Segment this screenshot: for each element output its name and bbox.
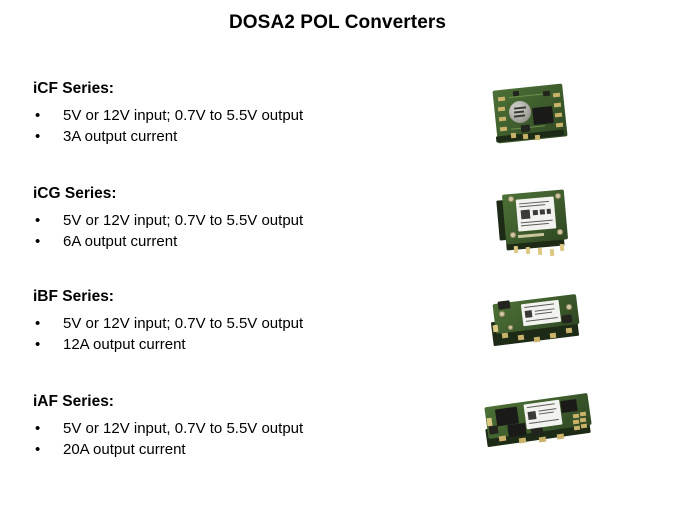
bullet-text: 20A output current [63,439,186,460]
iaf-module-photo [481,394,595,456]
list-item: • 5V or 12V input; 0.7V to 5.5V output [33,313,463,334]
list-item: • 5V or 12V input; 0.7V to 5.5V output [33,210,463,231]
ibf-module-photo [488,295,584,351]
list-item: • 20A output current [33,439,463,460]
bullet-text: 5V or 12V input; 0.7V to 5.5V output [63,105,303,126]
series-heading-iaf: iAF Series: [33,393,463,411]
series-heading-icf: iCF Series: [33,80,463,98]
bullet-icon: • [33,231,63,252]
list-item: • 5V or 12V input; 0.7V to 5.5V output [33,105,463,126]
bullet-icon: • [33,334,63,355]
bullet-icon: • [33,210,63,231]
series-block-icg: iCG Series: • 5V or 12V input; 0.7V to 5… [33,185,463,252]
bullet-icon: • [33,105,63,126]
series-block-ibf: iBF Series: • 5V or 12V input; 0.7V to 5… [33,288,463,355]
series-block-icf: iCF Series: • 5V or 12V input; 0.7V to 5… [33,80,463,147]
list-item: • 5V or 12V input, 0.7V to 5.5V output [33,418,463,439]
bullet-icon: • [33,126,63,147]
series-heading-icg: iCG Series: [33,185,463,203]
list-item: • 12A output current [33,334,463,355]
list-item: • 3A output current [33,126,463,147]
series-heading-ibf: iBF Series: [33,288,463,306]
icg-module-photo [492,188,578,256]
bullet-text: 12A output current [63,334,186,355]
page-title: DOSA2 POL Converters [0,12,675,34]
bullet-icon: • [33,313,63,334]
bullet-icon: • [33,439,63,460]
bullet-text: 5V or 12V input, 0.7V to 5.5V output [63,418,303,439]
list-item: • 6A output current [33,231,463,252]
icf-module-photo [491,83,571,145]
bullet-text: 6A output current [63,231,177,252]
bullet-text: 5V or 12V input; 0.7V to 5.5V output [63,210,303,231]
bullet-text: 3A output current [63,126,177,147]
series-block-iaf: iAF Series: • 5V or 12V input, 0.7V to 5… [33,393,463,460]
bullet-icon: • [33,418,63,439]
bullet-text: 5V or 12V input; 0.7V to 5.5V output [63,313,303,334]
